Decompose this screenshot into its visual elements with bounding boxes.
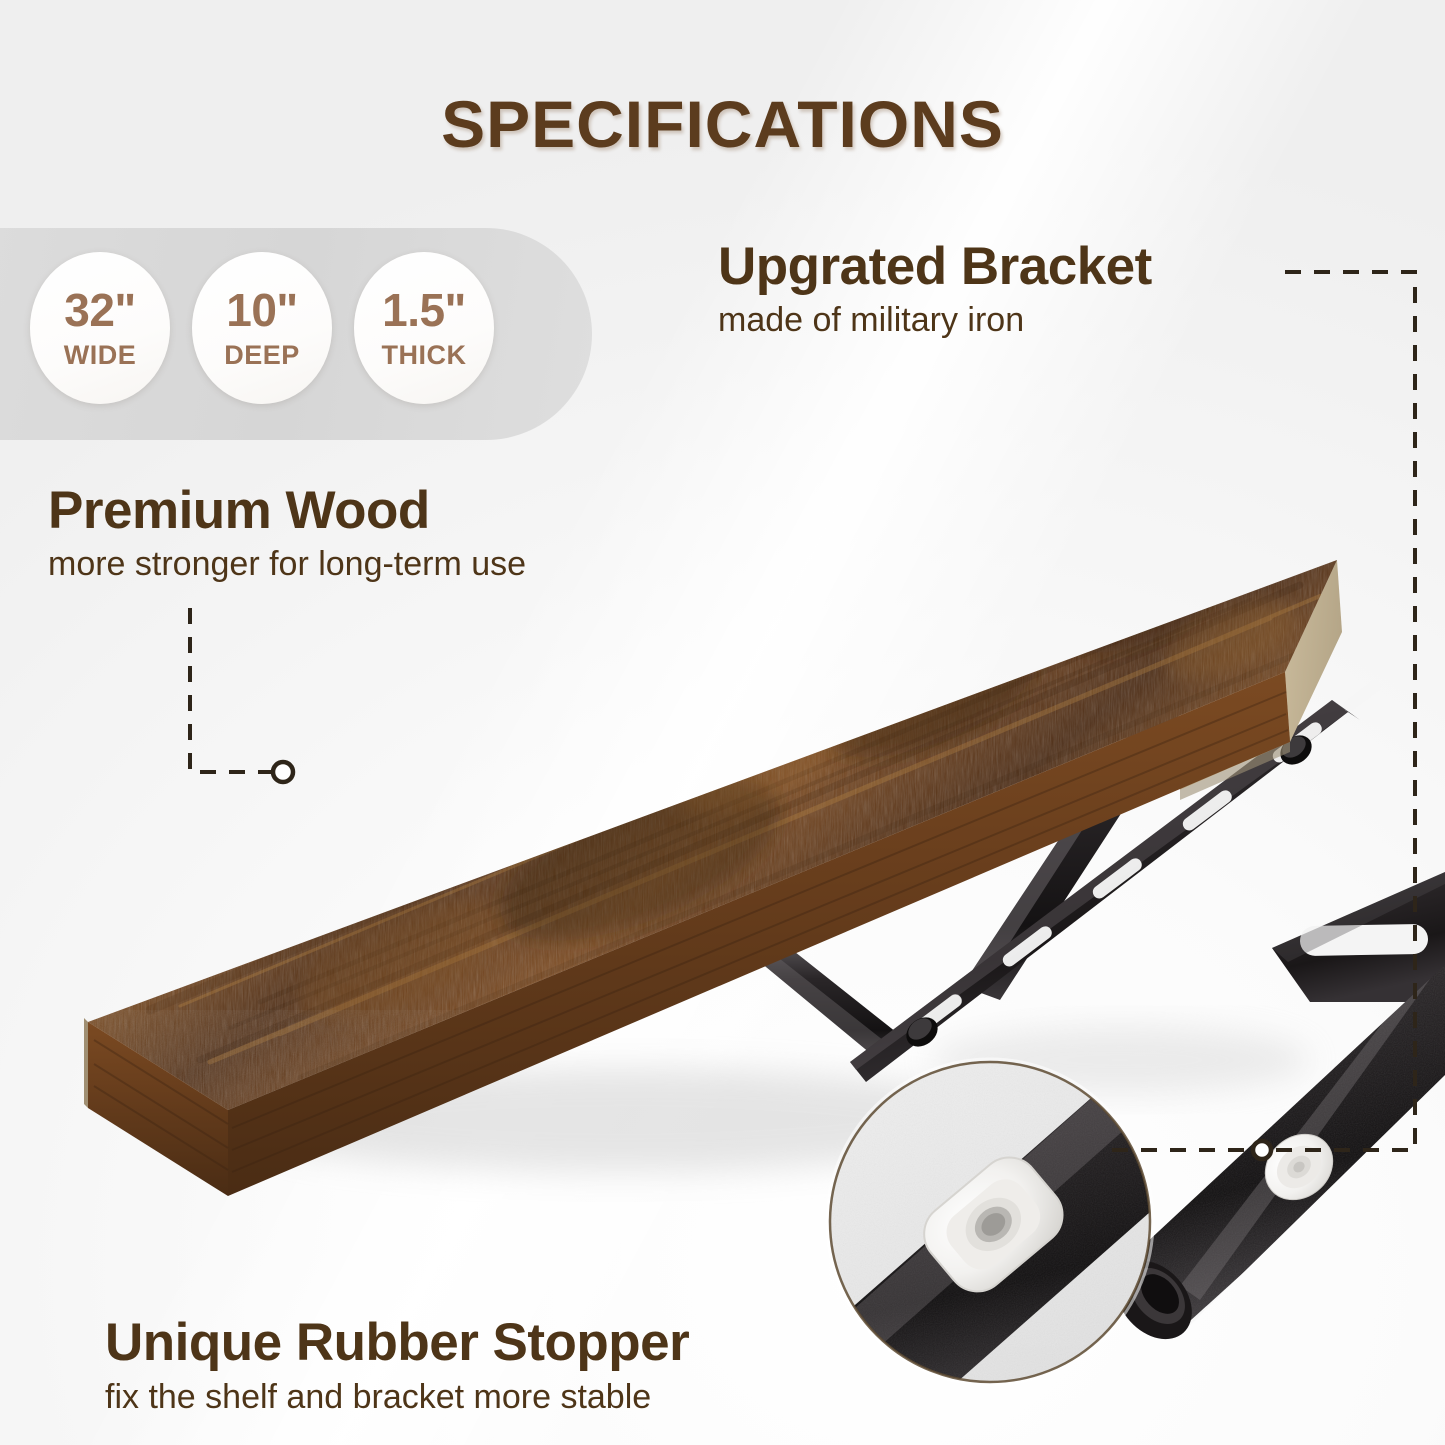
spec-badge-depth: 10" DEEP [192, 252, 332, 404]
spec-badge-width: 32" WIDE [30, 252, 170, 404]
callout-wood-subheading: more stronger for long-term use [48, 547, 526, 583]
spec-badge-depth-label: DEEP [224, 342, 300, 369]
page-title: SPECIFICATIONS [0, 86, 1445, 162]
spec-badge-width-value: 32" [64, 287, 135, 333]
callout-bracket-subheading: made of military iron [718, 303, 1152, 339]
spec-badge-depth-value: 10" [226, 287, 297, 333]
callout-upgraded-bracket: Upgrated Bracket made of military iron [718, 240, 1152, 339]
callout-bracket-heading: Upgrated Bracket [718, 240, 1152, 294]
callout-rubber-stopper: Unique Rubber Stopper fix the shelf and … [105, 1316, 689, 1416]
callout-premium-wood: Premium Wood more stronger for long-term… [48, 484, 526, 583]
callout-wood-heading: Premium Wood [48, 484, 526, 538]
specification-infographic: SPECIFICATIONS 32" WIDE 10" DEEP 1.5" TH… [0, 0, 1445, 1445]
product-illustration [0, 0, 1445, 1445]
spec-badge-group: 32" WIDE 10" DEEP 1.5" THICK [30, 252, 494, 404]
spec-badge-thickness: 1.5" THICK [354, 252, 494, 404]
callout-rubber-subheading: fix the shelf and bracket more stable [105, 1380, 689, 1416]
spec-badge-width-label: WIDE [64, 342, 137, 369]
callout-rubber-heading: Unique Rubber Stopper [105, 1316, 689, 1370]
leader-wood [190, 608, 272, 772]
spec-badge-thickness-label: THICK [382, 342, 467, 369]
bracket-foreground-arm [1100, 872, 1445, 1354]
spec-badge-thickness-value: 1.5" [382, 287, 466, 333]
